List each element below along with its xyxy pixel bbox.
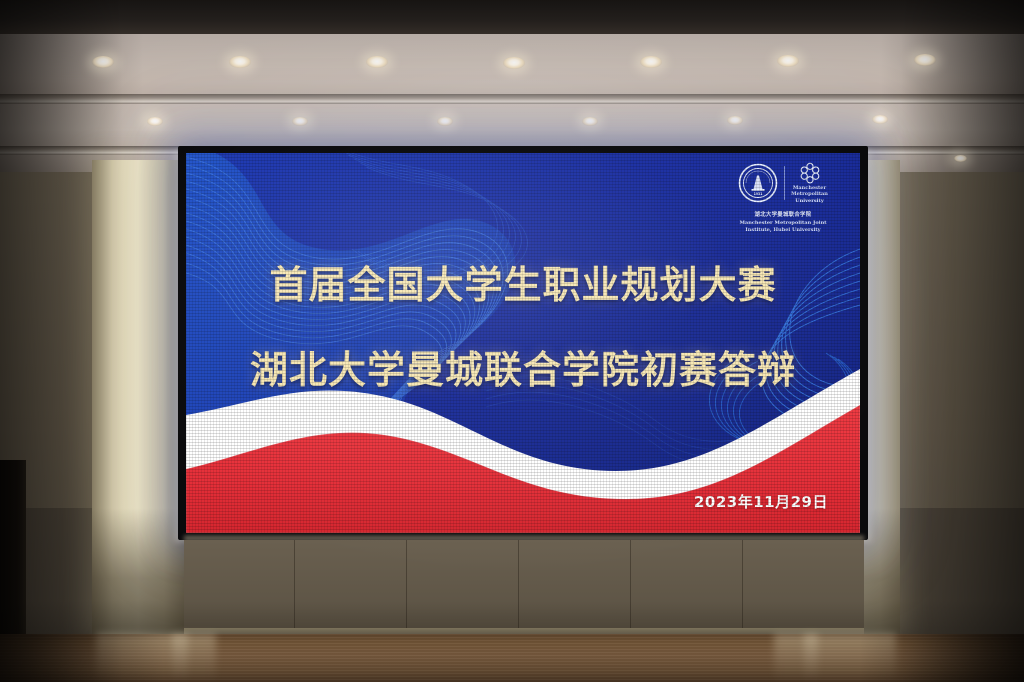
ceiling-downlight [437,117,453,126]
panel-seam [406,540,407,636]
manchester-metropolitan-logo-icon [797,162,823,184]
mmu-caption-line2: Metropolitan [791,191,828,198]
ceiling-downlight [954,155,967,162]
led-screen-display[interactable]: 1931 Manch [186,153,860,533]
hubei-university-seal-icon: 1931 [738,163,778,203]
stage-floor [0,634,1024,682]
slide-title-line-1: 首届全国大学生职业规划大赛 [186,254,860,309]
under-screen-panel [184,540,864,636]
panel-seam [742,540,743,636]
mmu-caption-line3: University [791,198,828,205]
wall-panel-right [896,172,1024,634]
slide-title-line-2: 湖北大学曼城联合学院初赛答辩 [186,339,860,394]
joint-institute-caption-cn: 湖北大学曼城联合学院 [718,210,848,218]
logo-row: 1931 Manch [718,159,848,207]
slide-date: 2023年11月29日 [694,491,828,512]
joint-institute-caption-en: Manchester Metropolitan Joint Institute,… [718,220,848,235]
ceiling-downlight [366,56,388,68]
ceiling-downlight [727,116,743,125]
svg-text:1931: 1931 [754,192,763,196]
stage-side-object [0,460,26,636]
logo-divider [784,166,785,200]
ceiling-downlight [229,56,251,68]
ceiling-downlight [872,115,888,124]
ceiling-dark-soffit [0,0,1024,34]
panel-seam [294,540,295,636]
ceiling-downlight [92,56,114,68]
panel-seam [518,540,519,636]
joint-institute-caption-en-line2: Institute, Hubei University [718,227,848,234]
joint-institute-caption-en-line1: Manchester Metropolitan Joint [718,220,848,227]
ceiling-downlight [582,117,598,126]
pillar-shadow [92,508,184,636]
ceiling-downlight [503,57,525,69]
panel-seam [630,540,631,636]
wall-pillar-left [92,160,184,636]
ceiling-downlight [914,54,936,66]
ceiling-downlight [640,56,662,68]
floor-vignette [0,634,1024,682]
ceiling-downlight [292,117,308,126]
auditorium-photo: 1931 Manch [0,0,1024,682]
slide-logo-block: 1931 Manch [718,159,848,235]
ceiling-downlight [147,117,163,126]
ceiling-downlight [777,55,799,67]
